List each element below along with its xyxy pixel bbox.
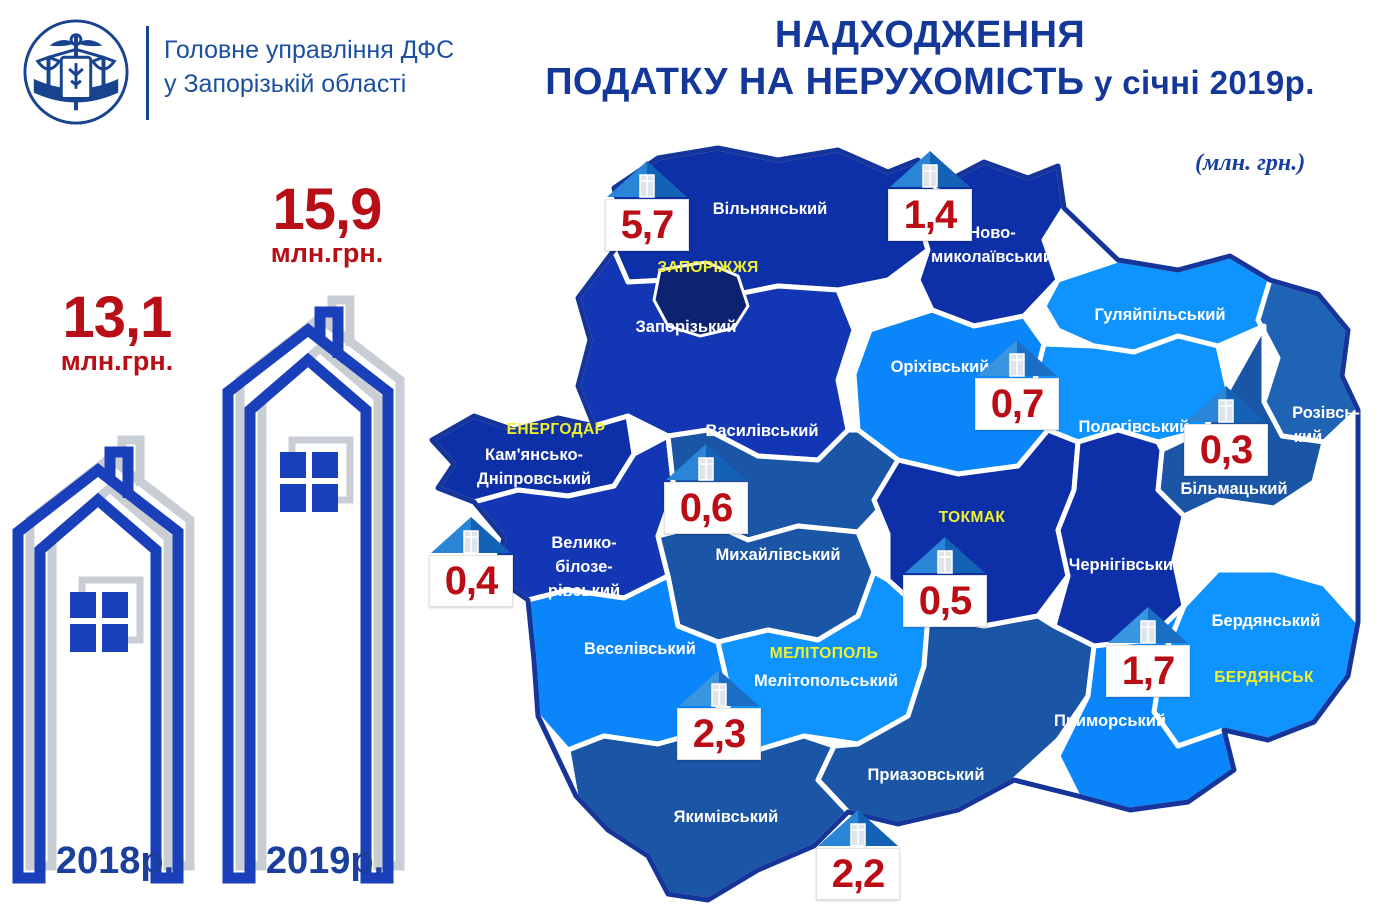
marker-value-box-zaporizhzhia: 5,7 <box>605 199 689 251</box>
chart-axis-label-2018: 2018р. <box>20 840 210 883</box>
marker-value-melitopolskyi: 2,3 <box>693 714 746 754</box>
label-vilnianskyi: Вільнянський <box>713 200 828 218</box>
marker-value-box-bilmatskyi: 0,3 <box>1184 424 1268 476</box>
label-novomykolaivskyi-2: миколаївський <box>931 248 1053 266</box>
page-title: НАДХОДЖЕННЯ ПОДАТКУ НА НЕРУХОМІСТЬ у січ… <box>470 14 1390 104</box>
marker-value-box-mykhailivskyi: 0,6 <box>664 482 748 534</box>
label-prymorskyi: Приморський <box>1054 712 1166 730</box>
house-icon-zaporizhzhia <box>605 159 689 199</box>
marker-berdiansk[interactable]: 1,7 <box>1106 605 1190 697</box>
label-huliaipilskyi: Гуляйпільський <box>1095 306 1226 324</box>
house-icon-polohivskyi <box>975 338 1059 378</box>
org-name-line2: у Запорізькій області <box>164 68 484 102</box>
marker-value-mykhailivskyi: 0,6 <box>680 488 733 528</box>
chart-value-2019-unit: млн.грн. <box>232 239 422 269</box>
marker-value-pryazovskyi: 2,2 <box>832 854 885 894</box>
label-kamdnipr-2: Дніпровський <box>477 470 591 488</box>
chart-value-2019: 15,9 млн.грн. <box>232 182 422 269</box>
org-name: Головне управління ДФС у Запорізькій обл… <box>164 34 484 101</box>
label-novomykolaivskyi-1: Ново- <box>968 224 1016 242</box>
label-city-zaporizhzhia: ЗАПОРІЖЖЯ <box>657 259 758 276</box>
label-chernihivskyi: Чернігівський <box>1069 556 1183 574</box>
marker-value-polohivskyi: 0,7 <box>991 384 1044 424</box>
title-line-2-tail: у січні 2019р. <box>1084 64 1314 101</box>
marker-mykhailivskyi[interactable]: 0,6 <box>664 442 748 534</box>
label-city-berdiansk: БЕРДЯНСЬК <box>1214 669 1314 686</box>
label-velbiloz-3: рівський <box>548 582 620 600</box>
title-line-2-bold: ПОДАТКУ НА НЕРУХОМІСТЬ <box>545 61 1084 103</box>
marker-value-zaporizhzhia: 5,7 <box>621 205 674 245</box>
marker-bilmatskyi[interactable]: 0,3 <box>1184 384 1268 476</box>
marker-value-novomykolaivskyi: 1,4 <box>904 195 957 235</box>
label-pryazovskyi: Приазовський <box>868 766 985 784</box>
house-icon-pryazovskyi <box>816 808 900 848</box>
header-logo-block: Головне управління ДФС у Запорізькій обл… <box>18 12 478 132</box>
title-line-2: ПОДАТКУ НА НЕРУХОМІСТЬ у січні 2019р. <box>470 61 1390 104</box>
marker-value-box-novomykolaivskyi: 1,4 <box>888 189 972 241</box>
zaporizhzhia-region-map: Вільнянський Ново- миколаївський Запоріз… <box>418 130 1393 920</box>
house-icon-melitopolskyi <box>677 668 761 708</box>
label-rozivskyi-2: кий <box>1294 428 1323 446</box>
label-kamdnipr-1: Кам'янсько- <box>485 446 583 464</box>
label-velbiloz-2: білозе- <box>555 558 613 576</box>
house-icon-kamiansko-dniprovskyi <box>429 515 513 555</box>
chart-value-2018: 13,1 млн.грн. <box>22 290 212 377</box>
marker-kamiansko-dniprovskyi[interactable]: 0,4 <box>429 515 513 607</box>
houses-bar-chart: 13,1 млн.грн. 15,9 млн.грн. 2018р. 2019р… <box>0 160 430 920</box>
label-city-tokmak: ТОКМАК <box>939 509 1006 526</box>
marker-novomykolaivskyi[interactable]: 1,4 <box>888 149 972 241</box>
house-icon-tokmak <box>903 535 987 575</box>
marker-value-box-pryazovskyi: 2,2 <box>816 848 900 900</box>
chart-value-2018-unit: млн.грн. <box>22 347 212 377</box>
label-polohivskyi: Пологівський <box>1079 418 1190 436</box>
label-yakymivskyi: Якимівський <box>674 808 779 826</box>
header-divider <box>146 26 149 120</box>
marker-tokmak[interactable]: 0,5 <box>903 535 987 627</box>
marker-value-box-tokmak: 0,5 <box>903 575 987 627</box>
label-city-melitopol: МЕЛІТОПОЛЬ <box>770 645 878 662</box>
marker-value-kamiansko-dniprovskyi: 0,4 <box>445 561 498 601</box>
dfs-emblem-icon <box>22 18 130 126</box>
house-icon-berdiansk <box>1106 605 1190 645</box>
label-mykhailivskyi: Михайлівський <box>715 546 840 564</box>
label-vasylivskyi: Василівський <box>705 422 818 440</box>
region-huliaipilskyi[interactable] <box>1044 256 1270 352</box>
marker-value-berdiansk: 1,7 <box>1122 651 1175 691</box>
marker-value-box-melitopolskyi: 2,3 <box>677 708 761 760</box>
house-icon-bilmatskyi <box>1184 384 1268 424</box>
marker-zaporizhzhia[interactable]: 5,7 <box>605 159 689 251</box>
label-bilmatskyi: Більмацький <box>1180 480 1287 498</box>
house-icon-mykhailivskyi <box>664 442 748 482</box>
label-velbiloz-1: Велико- <box>551 534 616 552</box>
marker-melitopolskyi[interactable]: 2,3 <box>677 668 761 760</box>
marker-value-box-kamiansko-dniprovskyi: 0,4 <box>429 555 513 607</box>
org-name-line1: Головне управління ДФС <box>164 34 484 68</box>
marker-pryazovskyi[interactable]: 2,2 <box>816 808 900 900</box>
chart-value-2019-number: 15,9 <box>232 182 422 237</box>
marker-value-tokmak: 0,5 <box>919 581 972 621</box>
chart-axis-label-2019: 2019р. <box>230 840 420 883</box>
marker-value-box-polohivskyi: 0,7 <box>975 378 1059 430</box>
label-melitopolskyi: Мелітопольський <box>754 672 898 690</box>
house-icon-novomykolaivskyi <box>888 149 972 189</box>
map-svg: Вільнянський Ново- миколаївський Запоріз… <box>418 130 1393 920</box>
label-veselivskyi: Веселівський <box>584 640 696 658</box>
chart-value-2018-number: 13,1 <box>22 290 212 345</box>
label-zaporizkyi: Запорізький <box>635 318 736 336</box>
label-rozivskyi-1: Розівсь- <box>1292 404 1360 422</box>
label-berdianskyi: Бердянський <box>1212 612 1321 630</box>
marker-value-box-berdiansk: 1,7 <box>1106 645 1190 697</box>
marker-polohivskyi[interactable]: 0,7 <box>975 338 1059 430</box>
title-line-1: НАДХОДЖЕННЯ <box>470 14 1390 57</box>
label-city-enerhodar: ЕНЕРГОДАР <box>507 421 606 438</box>
marker-value-bilmatskyi: 0,3 <box>1200 430 1253 470</box>
